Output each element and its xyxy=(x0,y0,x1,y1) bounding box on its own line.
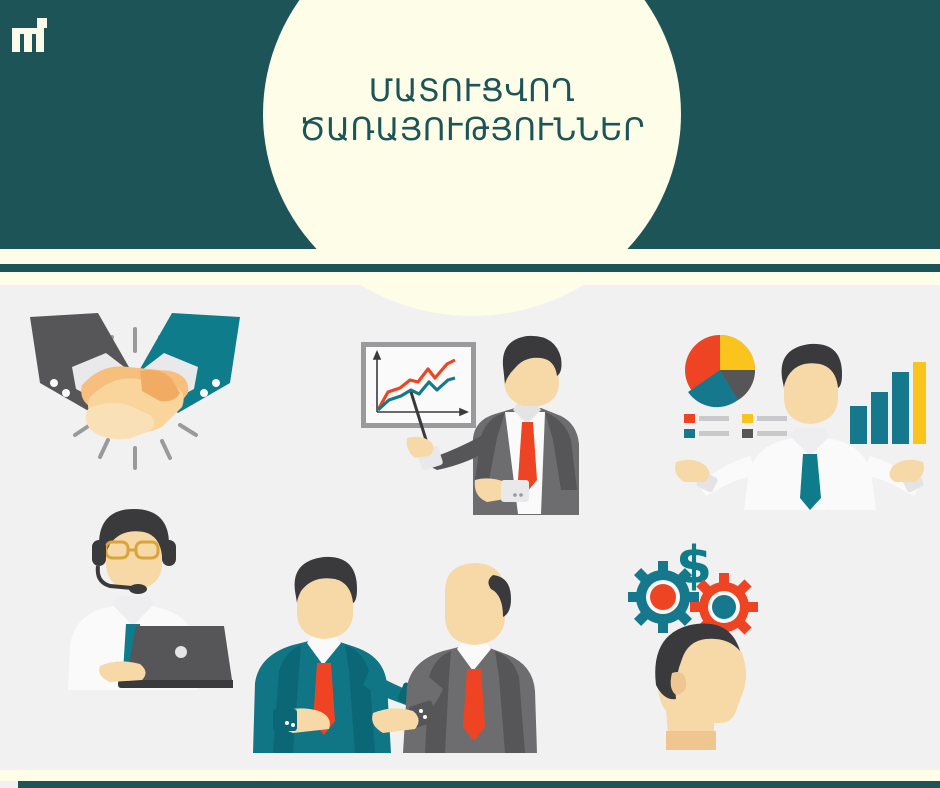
left-cuff-button-2 xyxy=(62,389,70,397)
pie-legend xyxy=(684,414,787,438)
business-discussion-illustration xyxy=(245,553,540,753)
page-title-line-2: ԾԱՌԱՅՈՒԹՅՈՒՆՆԵՐ xyxy=(263,111,681,150)
right-man-cuff-button-1 xyxy=(419,709,423,713)
right-cuff-button-2 xyxy=(200,389,208,397)
right-man-open-hand xyxy=(372,708,418,733)
page-title-line-1: ՄԱՏՈՒՑՎՈՂ xyxy=(263,72,681,111)
divider-cream-top xyxy=(0,249,940,264)
left-man-cuff-button-1 xyxy=(285,721,289,725)
pie-chart xyxy=(685,335,755,407)
analyst-left-hand xyxy=(675,460,710,482)
left-man-cuff-button-2 xyxy=(291,723,295,727)
call-center-agent-illustration xyxy=(48,500,233,690)
mi-logo xyxy=(12,18,56,52)
footer-cream-strip xyxy=(0,770,940,781)
page-title: ՄԱՏՈՒՑՎՈՂ ԾԱՌԱՅՈՒԹՅՈՒՆՆԵՐ xyxy=(263,72,681,150)
analytics-presenter-illustration xyxy=(672,330,927,510)
handshake-illustration xyxy=(20,305,250,480)
headset-earpiece-left xyxy=(92,540,106,566)
head-gears-dollar-illustration: $ xyxy=(628,535,793,750)
services-slide: ՄԱՏՈՒՑՎՈՂ ԾԱՌԱՅՈՒԹՅՈՒՆՆԵՐ xyxy=(0,0,940,788)
presenter-right-cuff xyxy=(501,480,529,502)
left-man-lower-cuff xyxy=(273,709,297,731)
logo-i-dot xyxy=(37,18,47,28)
illustrations-area: $ xyxy=(0,285,940,770)
divider-cream-bottom xyxy=(0,272,940,285)
logo-m-middle-stem xyxy=(24,28,32,52)
presenter-cuff-button-2 xyxy=(519,493,523,497)
headset-earpiece-right xyxy=(162,540,176,566)
divider-teal-bar xyxy=(0,264,940,272)
profile-neck xyxy=(666,731,716,750)
laptop-base xyxy=(118,680,233,688)
logo-m-left-stem xyxy=(12,28,20,52)
right-man-head xyxy=(445,563,505,645)
presenter-chart-illustration xyxy=(355,330,590,515)
gear-teal-icon xyxy=(628,561,699,633)
analyst-right-hand xyxy=(889,460,924,482)
right-man-tie xyxy=(463,669,485,741)
headset-microphone xyxy=(129,584,147,594)
right-cuff-button-1 xyxy=(212,379,220,387)
bar-chart xyxy=(850,362,926,444)
presenter-cuff-button-1 xyxy=(513,493,517,497)
laptop-logo xyxy=(175,646,187,658)
footer-teal-bar xyxy=(18,781,940,788)
logo-i-stem xyxy=(36,28,44,52)
agent-hands xyxy=(99,661,145,682)
presenter-pointing-hand xyxy=(407,437,434,458)
right-man-cuff-button-2 xyxy=(423,715,427,719)
title-circle-bleed xyxy=(263,285,681,316)
left-cuff-button-1 xyxy=(50,379,58,387)
